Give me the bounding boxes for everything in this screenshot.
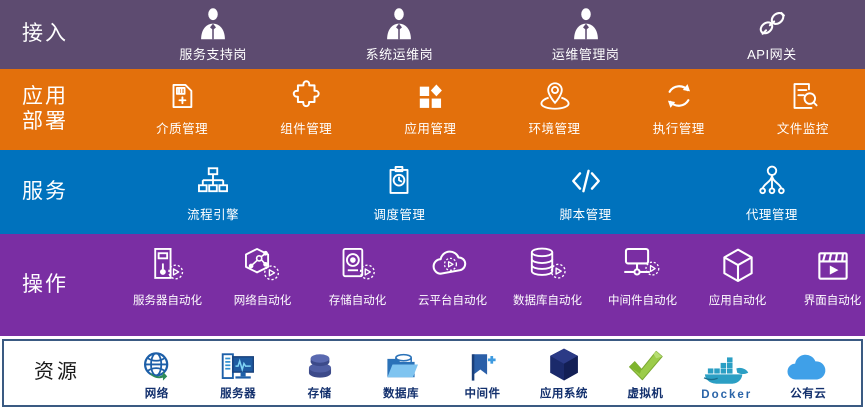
puzzle-piece-icon [289,79,323,113]
blocks-icon [413,79,447,113]
middleware-flag-icon [465,350,499,384]
server-monitor-icon [220,350,256,384]
storage-stack-icon [302,350,338,384]
item-network[interactable]: 网络 [116,350,197,401]
item-application-automation[interactable]: 应用自动化 [690,246,785,308]
item-server-automation[interactable]: 服务器自动化 [120,246,215,308]
item-label: 应用自动化 [709,292,767,308]
item-label: 存储 [308,385,332,401]
flow-tree-icon [196,164,230,198]
layer-resource-title: 资源 [4,361,116,385]
cloud-play-icon [430,246,476,286]
person-suit-icon [382,7,416,41]
item-execution-management[interactable]: 执行管理 [618,79,740,137]
item-label: 数据库自动化 [513,292,582,308]
item-service-support-post[interactable]: 服务支持岗 [138,7,288,63]
layer-ops-items: 服务器自动化 [120,234,865,336]
item-middleware[interactable]: 中间件 [442,350,523,401]
item-label: 执行管理 [653,118,705,137]
item-network-automation[interactable]: 网络自动化 [215,246,310,308]
item-script-management[interactable]: 脚本管理 [506,164,666,223]
item-agent-management[interactable]: 代理管理 [692,164,852,223]
item-middleware-automation[interactable]: 中间件自动化 [595,246,690,308]
item-label: 服务器 [220,385,256,401]
layer-resource: 资源 网络 [2,339,863,407]
item-label: 调度管理 [373,204,425,223]
app-cube-icon [545,346,583,384]
item-label: 网络自动化 [234,292,292,308]
item-flow-engine[interactable]: 流程引擎 [133,164,293,223]
item-label: 网络 [145,385,169,401]
item-component-management[interactable]: 组件管理 [245,79,367,137]
item-label: 介质管理 [156,118,208,137]
layer-deploy: 应用 部署 [0,69,865,150]
item-file-monitoring[interactable]: 文件监控 [742,79,864,137]
item-system-ops-post[interactable]: 系统运维岗 [324,7,474,63]
item-label: 数据库 [383,385,419,401]
layer-service: 服务 [0,150,865,234]
item-schedule-management[interactable]: 调度管理 [319,164,479,223]
layer-service-title: 服务 [0,180,120,205]
network-hex-play-icon [240,246,286,286]
item-ui-automation[interactable]: 界面自动化 [785,246,865,308]
item-label: API网关 [747,44,796,63]
item-environment-management[interactable]: 环境管理 [494,79,616,137]
item-label: 中间件 [464,385,500,401]
location-pin-icon [538,79,572,113]
item-label: 组件管理 [280,118,332,137]
item-label: 服务支持岗 [179,44,247,63]
item-label: 界面自动化 [804,292,862,308]
item-label: 脚本管理 [560,204,612,223]
agent-nodes-icon [755,164,789,198]
ui-play-icon [813,246,853,286]
item-media-management[interactable]: 介质管理 [121,79,243,137]
vmware-check-icon [625,348,665,384]
item-server[interactable]: 服务器 [197,350,278,401]
layer-service-items: 流程引擎 调度管理 [120,150,865,234]
clipboard-clock-icon [382,164,416,198]
architecture-diagram: 接入 服务支持岗 [0,0,865,409]
public-cloud-icon [786,352,830,384]
item-label: 应用管理 [404,118,456,137]
item-label: 代理管理 [746,204,798,223]
item-label: 存储自动化 [329,292,387,308]
docker-whale-icon [702,354,752,388]
middleware-play-icon [620,246,666,286]
layer-access: 接入 服务支持岗 [0,0,865,69]
layer-resource-items: 网络 [116,346,861,401]
layer-ops: 操作 [0,234,865,336]
layer-access-items: 服务支持岗 系统运维岗 [120,0,865,69]
item-virtual-machine[interactable]: 虚拟机 [605,348,686,401]
globe-icon [140,350,174,384]
item-application-system[interactable]: 应用系统 [523,346,604,401]
item-label: 文件监控 [777,118,829,137]
database-play-icon [525,246,571,286]
item-storage[interactable]: 存储 [279,350,360,401]
sd-card-plus-icon [165,79,199,113]
item-label: 流程引擎 [187,204,239,223]
person-suit-icon [569,7,603,41]
item-cloud-platform-automation[interactable]: 云平台自动化 [405,246,500,308]
item-database[interactable]: 数据库 [360,350,441,401]
item-label: 运维管理岗 [552,44,620,63]
layer-deploy-title: 应用 部署 [0,85,120,135]
item-public-cloud[interactable]: 公有云 [768,352,849,401]
item-label: 云平台自动化 [418,292,487,308]
item-api-gateway[interactable]: API网关 [697,7,847,63]
layer-access-title: 接入 [0,22,120,47]
layer-ops-title: 操作 [0,273,120,298]
item-docker[interactable]: Docker [686,354,767,401]
item-label: 中间件自动化 [608,292,677,308]
layer-deploy-items: 介质管理 组件管理 [120,69,865,150]
database-folder-icon [383,350,419,384]
item-database-automation[interactable]: 数据库自动化 [500,246,595,308]
item-label: 服务器自动化 [133,292,202,308]
code-brackets-icon [569,164,603,198]
item-storage-automation[interactable]: 存储自动化 [310,246,405,308]
refresh-cycle-icon [662,79,696,113]
item-label: 系统运维岗 [366,44,434,63]
item-label: 环境管理 [529,118,581,137]
server-tower-play-icon [145,246,191,286]
storage-disk-play-icon [335,246,381,286]
item-label: Docker [701,389,752,401]
person-suit-icon [196,7,230,41]
item-label: 应用系统 [540,385,588,401]
item-label: 虚拟机 [627,385,663,401]
document-search-icon [786,79,820,113]
item-label: 公有云 [790,385,826,401]
item-ops-management-post[interactable]: 运维管理岗 [511,7,661,63]
cube-icon [718,246,758,286]
item-application-management[interactable]: 应用管理 [369,79,491,137]
api-link-icon [755,7,789,41]
